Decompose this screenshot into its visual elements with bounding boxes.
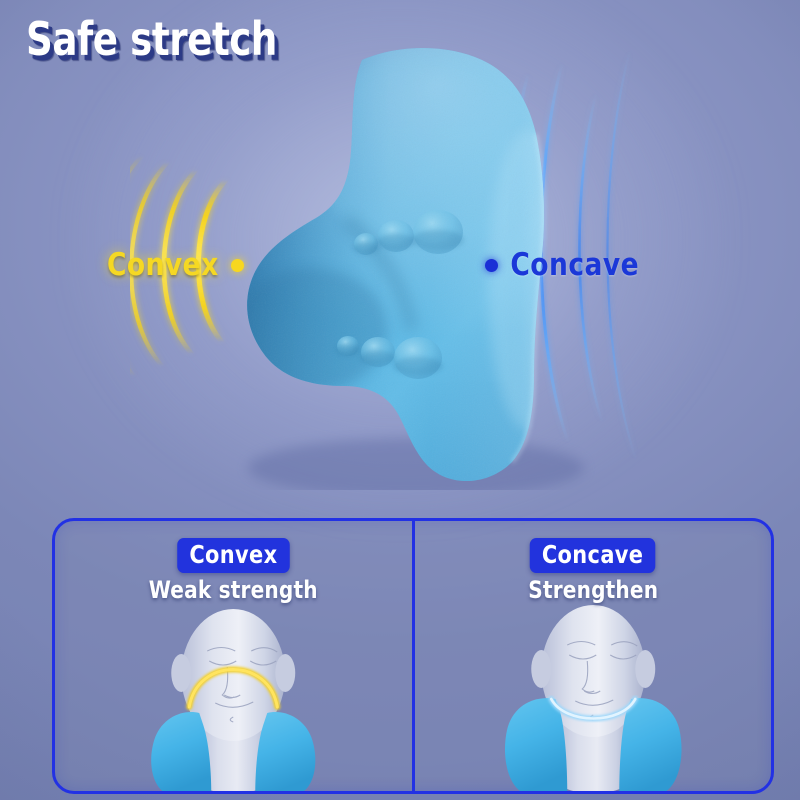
caption-convex: Weak strength: [67, 577, 399, 604]
hotspot-convex-label: Convex: [107, 247, 219, 283]
hotspot-concave-label: Concave: [510, 247, 639, 283]
hotspot-convex[interactable]: Convex: [104, 247, 244, 283]
panel-concave-header: Concave Strengthen: [415, 521, 772, 604]
figure-convex: [55, 595, 412, 791]
figure-concave: [415, 595, 772, 791]
hotspot-convex-dot: [231, 259, 244, 272]
badge-concave: Concave: [530, 538, 656, 573]
product-infographic: Safe stretch: [0, 0, 800, 800]
panel-convex-header: Convex Weak strength: [55, 521, 412, 604]
badge-convex: Convex: [177, 538, 289, 573]
comparison-panel: Convex Weak strength: [52, 518, 774, 794]
caption-concave: Strengthen: [427, 577, 759, 604]
panel-convex[interactable]: Convex Weak strength: [55, 521, 412, 791]
hotspot-concave-dot: [485, 259, 498, 272]
hotspot-concave[interactable]: Concave: [485, 247, 642, 283]
panel-concave[interactable]: Concave Strengthen: [415, 521, 772, 791]
